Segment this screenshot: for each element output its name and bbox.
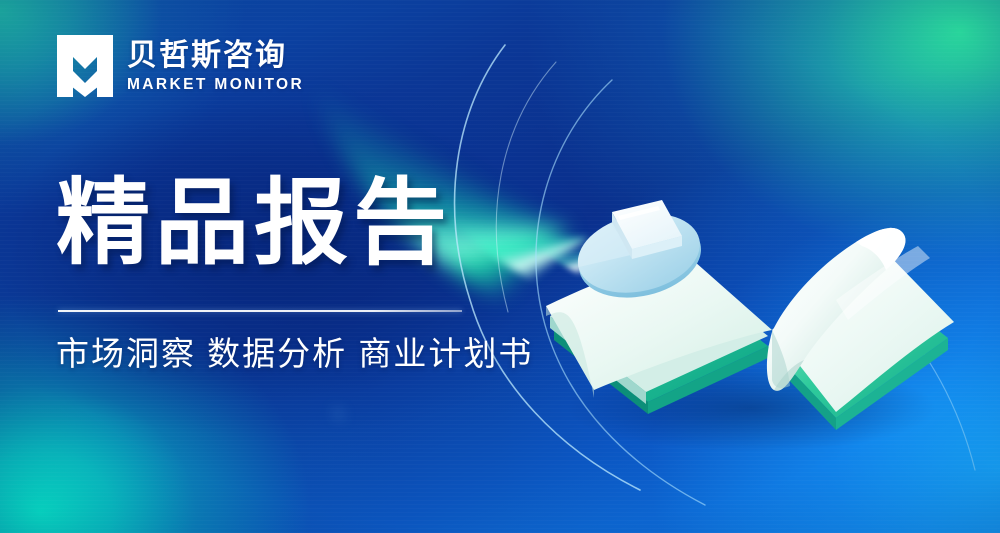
page-title: 精品报告 (56, 176, 452, 270)
report-banner: 贝哲斯咨询 MARKET MONITOR 精品报告 市场洞察 数据分析 商业计划… (0, 0, 1000, 533)
company-name-en: MARKET MONITOR (127, 77, 304, 93)
brand-logo[interactable]: 贝哲斯咨询 MARKET MONITOR (57, 35, 304, 97)
company-name-cn: 贝哲斯咨询 (127, 40, 304, 72)
page-subtitle: 市场洞察 数据分析 商业计划书 (56, 334, 533, 374)
open-book-illustration (536, 150, 956, 450)
title-divider (58, 310, 462, 312)
brand-logo-text: 贝哲斯咨询 MARKET MONITOR (127, 40, 304, 92)
market-monitor-m-mark-icon (57, 35, 113, 97)
